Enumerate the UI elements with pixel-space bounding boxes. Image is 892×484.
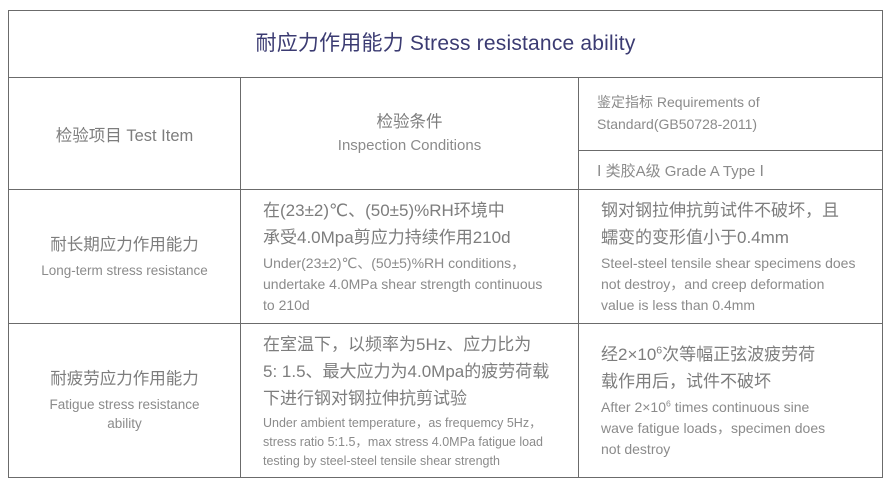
table-row: 耐长期应力作用能力 Long-term stress resistance 在(… bbox=[9, 190, 883, 324]
header-inspection-conditions-cell: 检验条件 Inspection Conditions bbox=[241, 78, 579, 190]
row-1-test-item-cell: 耐长期应力作用能力 Long-term stress resistance bbox=[9, 190, 241, 324]
page-title: 耐应力作用能力 Stress resistance ability bbox=[256, 32, 636, 55]
row-1-requirement-cn: 钢对钢拉伸抗剪试件不破坏，且 蠕变的变形值小于0.4mm bbox=[601, 197, 872, 251]
spec-table-page: 耐应力作用能力 Stress resistance ability 检验项目 T… bbox=[0, 0, 892, 484]
row-2-requirement-cn-pre: 经2×10 bbox=[601, 345, 656, 364]
header-requirements-cell: 鉴定指标 Requirements of Standard(GB50728-20… bbox=[579, 78, 883, 151]
header-grade-cell: Ⅰ 类胶A级 Grade A Type Ⅰ bbox=[579, 151, 883, 190]
header-inspection-conditions-en: Inspection Conditions bbox=[241, 135, 578, 158]
row-1-conditions-en: Under(23±2)℃、(50±5)%RH conditions， under… bbox=[263, 253, 568, 316]
row-1-requirement-en: Steel-steel tensile shear specimens does… bbox=[601, 253, 872, 316]
row-2-requirement-cn: 经2×106次等幅正弦波疲劳荷 载作用后，试件不破坏 bbox=[601, 341, 872, 395]
row-2-test-item-cell: 耐疲劳应力作用能力 Fatigue stress resistance abil… bbox=[9, 324, 241, 478]
row-1-conditions-cell: 在(23±2)℃、(50±5)%RH环境中 承受4.0Mpa剪应力持续作用210… bbox=[241, 190, 579, 324]
table-header-row: 检验项目 Test Item 检验条件 Inspection Condition… bbox=[9, 78, 883, 151]
row-2-requirement-en-pre: After 2×10 bbox=[601, 399, 666, 415]
row-1-test-item-cn: 耐长期应力作用能力 bbox=[23, 233, 226, 259]
table-title-cell: 耐应力作用能力 Stress resistance ability bbox=[9, 11, 883, 78]
header-test-item-cell: 检验项目 Test Item bbox=[9, 78, 241, 190]
header-test-item-label: 检验项目 Test Item bbox=[56, 127, 194, 145]
header-inspection-conditions-cn: 检验条件 bbox=[241, 110, 578, 135]
row-1-test-item-en: Long-term stress resistance bbox=[23, 261, 226, 281]
table-row: 耐疲劳应力作用能力 Fatigue stress resistance abil… bbox=[9, 324, 883, 478]
row-2-requirement-cell: 经2×106次等幅正弦波疲劳荷 载作用后，试件不破坏 After 2×106 t… bbox=[579, 324, 883, 478]
row-2-conditions-cn: 在室温下，以频率为5Hz、应力比为 5: 1.5、最大应力为4.0Mpa的疲劳荷… bbox=[263, 331, 568, 413]
row-2-conditions-cell: 在室温下，以频率为5Hz、应力比为 5: 1.5、最大应力为4.0Mpa的疲劳荷… bbox=[241, 324, 579, 478]
row-1-conditions-cn: 在(23±2)℃、(50±5)%RH环境中 承受4.0Mpa剪应力持续作用210… bbox=[263, 197, 568, 251]
row-2-test-item-cn: 耐疲劳应力作用能力 bbox=[23, 367, 226, 393]
row-1-requirement-cell: 钢对钢拉伸抗剪试件不破坏，且 蠕变的变形值小于0.4mm Steel-steel… bbox=[579, 190, 883, 324]
header-requirements-label: 鉴定指标 Requirements of Standard(GB50728-20… bbox=[597, 94, 760, 132]
row-2-test-item-en: Fatigue stress resistance ability bbox=[23, 395, 226, 434]
header-grade-label: Ⅰ 类胶A级 Grade A Type Ⅰ bbox=[597, 163, 764, 180]
row-2-conditions-en: Under ambient temperature，as frequemcy 5… bbox=[263, 414, 568, 470]
table-title-row: 耐应力作用能力 Stress resistance ability bbox=[9, 11, 883, 78]
stress-resistance-table: 耐应力作用能力 Stress resistance ability 检验项目 T… bbox=[8, 10, 883, 478]
row-2-requirement-en: After 2×106 times continuous sine wave f… bbox=[601, 397, 872, 460]
